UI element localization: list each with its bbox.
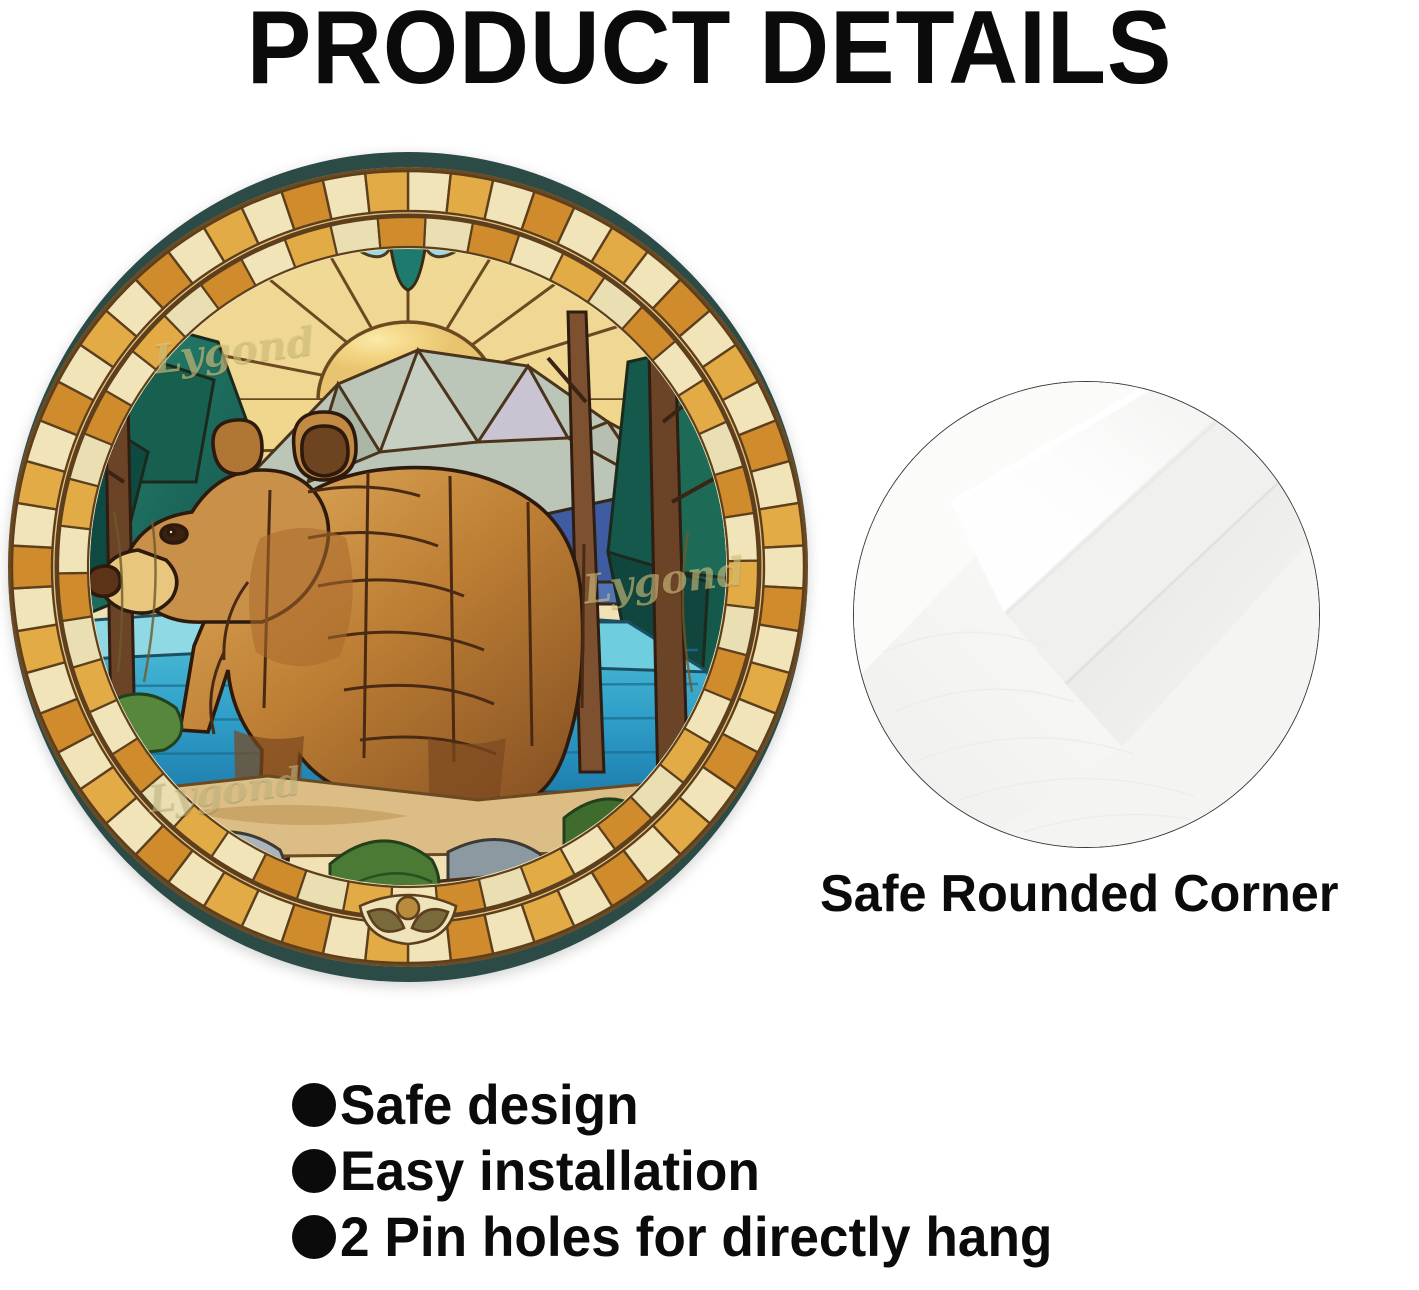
stained-glass-bear-suncatcher — [8, 152, 808, 982]
filled-circle-icon — [292, 1149, 336, 1193]
rounded-edge-macro — [854, 382, 1319, 847]
safe-rounded-corner-caption: Safe Rounded Corner — [820, 864, 1402, 924]
list-item: Safe design — [292, 1072, 1392, 1138]
stained-glass-artwork — [8, 152, 808, 982]
filled-circle-icon — [292, 1083, 336, 1127]
page-title: PRODUCT DETAILS — [50, 0, 1370, 103]
list-item: Easy installation — [292, 1138, 1392, 1204]
list-item: 2 Pin holes for directly hang — [292, 1204, 1392, 1270]
feature-label: Easy installation — [340, 1143, 760, 1199]
filled-circle-icon — [292, 1215, 336, 1259]
feature-list: Safe design Easy installation 2 Pin hole… — [292, 1072, 1392, 1270]
safe-rounded-corner-closeup — [853, 381, 1320, 848]
feature-label: 2 Pin holes for directly hang — [340, 1209, 1052, 1265]
product-image-container: Lygond Lygond Lygond — [8, 152, 808, 982]
feature-label: Safe design — [340, 1077, 639, 1133]
